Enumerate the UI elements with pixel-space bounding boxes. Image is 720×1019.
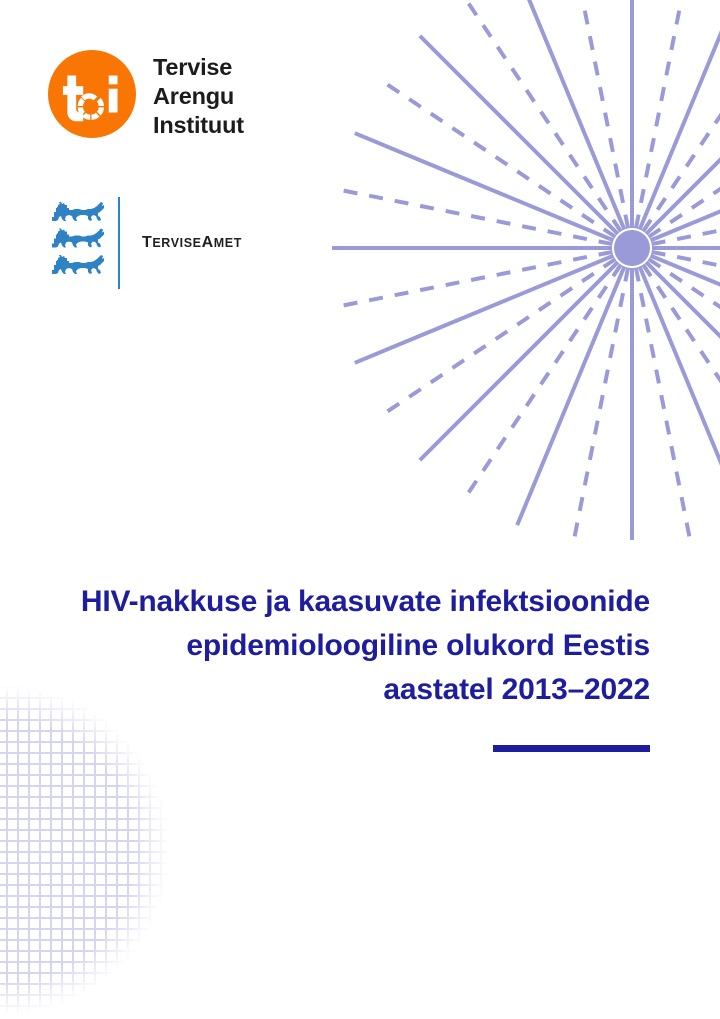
starburst-ray [650,256,720,363]
estonian-coat-of-arms-icon [48,199,108,279]
logo-divider [118,197,120,289]
starburst-ray [338,252,613,307]
tai-logo: Tervise Arengu Instituut [48,50,244,140]
starburst-ray [420,262,618,460]
starburst-ray [573,0,628,228]
starburst-ray [643,0,720,231]
three-lions-group [52,202,104,274]
starburst-ray [640,266,720,525]
starburst-ray [646,262,720,460]
starburst-ray [517,266,624,525]
starburst-center-hub [614,230,650,266]
starburst-rays [332,0,720,540]
starburst-ray [355,256,614,363]
heraldic-lion-icon [52,229,104,248]
starburst-ray [383,259,616,415]
starburst-ray [650,133,720,240]
starburst-ray [383,81,616,237]
terviseamet-wordmark-met: MET [214,236,242,250]
tai-wordmark: Tervise Arengu Instituut [153,50,244,140]
starburst-ray [640,0,720,230]
heraldic-lion-icon [52,255,104,274]
starburst-ray [338,189,613,244]
starburst-ray [649,259,720,415]
title-underline-rule [493,745,650,752]
title-line-2: epidemioloogiline olukord Eestis [186,629,650,662]
title-block: HIV-nakkuse ja kaasuvate infektsioonide … [40,580,650,752]
tai-wordmark-line-2: Arengu [153,82,244,111]
page-title: HIV-nakkuse ja kaasuvate infektsioonide … [40,580,650,712]
tai-wordmark-line-1: Tervise [153,53,244,82]
starburst-ray [355,133,614,240]
starburst-ray [649,81,720,237]
starburst-ray [652,252,720,307]
terviseamet-logo: TERVISEAMET [48,197,242,289]
terviseamet-wordmark-ervise: ERVISE [152,236,201,250]
heraldic-lion-icon [52,202,104,221]
title-line-1: HIV-nakkuse ja kaasuvate infektsioonide [81,585,650,618]
starburst-ray [465,265,621,498]
starburst-ray [643,265,720,498]
document-cover-page: Tervise Arengu Instituut TERVISEAMET HIV… [0,0,720,1019]
terviseamet-wordmark-t: T [142,234,152,252]
starburst-ray [517,0,624,230]
terviseamet-wordmark-a: A [202,234,214,252]
starburst-ray [636,0,691,228]
tai-logo-mark-icon [48,50,136,138]
starburst-ray [652,189,720,244]
terviseamet-wordmark: TERVISEAMET [142,197,242,289]
starburst-ray [420,36,618,234]
starburst-ray [573,268,628,540]
starburst-ray [646,36,720,234]
title-line-3: aastatel 2013–2022 [383,673,650,706]
starburst-ray [636,268,691,540]
starburst-ray [465,0,621,231]
tai-wordmark-line-3: Instituut [153,111,244,140]
